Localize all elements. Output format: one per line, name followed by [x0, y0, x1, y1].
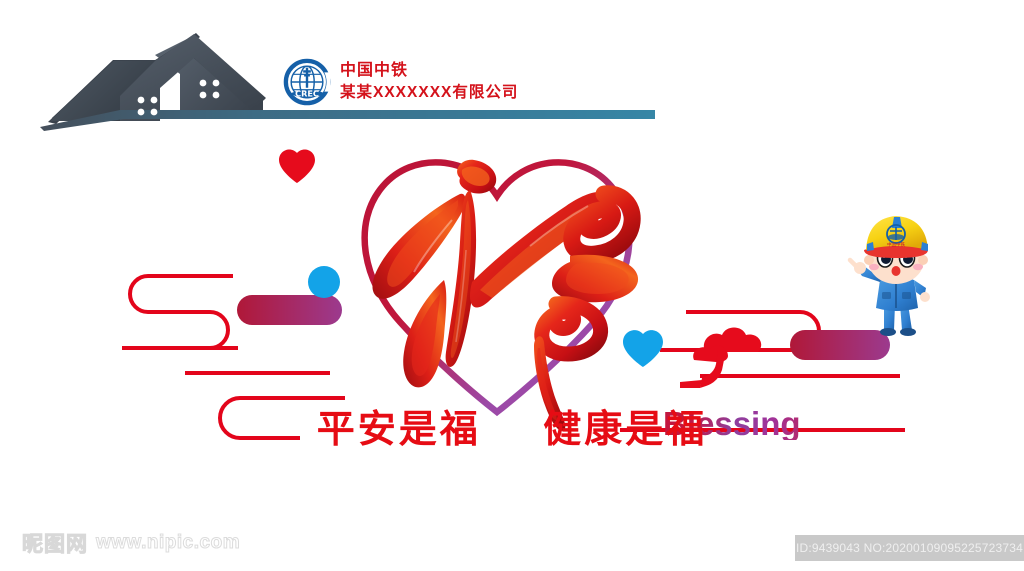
- mascot-helmet-badge-band: [888, 234, 904, 240]
- company-name-block: 中国中铁 某某XXXXXXX有限公司: [340, 61, 518, 102]
- blue-circle-dot: [308, 266, 340, 298]
- mascot-mouth: [892, 266, 901, 276]
- poster-canvas: CREC 中国中铁 某某XXXXXXX有限公司: [0, 0, 1024, 571]
- mascot-helmet-badge-text: 中国中铁: [887, 241, 905, 248]
- fu-calligraphy: [372, 160, 638, 431]
- image-id-bar: ID:9439043 NO:20200109095225723734: [795, 535, 1024, 561]
- svg-text:CREC: CREC: [295, 88, 319, 98]
- construction-worker-mascot: 中国中铁: [838, 208, 954, 340]
- company-name-secondary: 某某XXXXXXX有限公司: [340, 83, 518, 102]
- slogan-part-one: 平安是福: [317, 407, 481, 451]
- mascot-pocket-right: [902, 292, 911, 299]
- mascot-right-hand: [920, 292, 930, 302]
- red-heart-icon: [279, 149, 315, 183]
- gradient-pill-left: [237, 295, 342, 325]
- header-section: CREC 中国中铁 某某XXXXXXX有限公司: [0, 0, 1024, 140]
- mascot-blush-right: [913, 264, 923, 270]
- company-name-primary: 中国中铁: [340, 61, 518, 81]
- site-watermark: 昵图网 www.nipic.com: [22, 528, 240, 558]
- watermark-cn-text: 昵图网: [22, 528, 88, 558]
- mascot-ear-left: [864, 255, 874, 265]
- slogan-text: 平安是福 健康是福: [0, 398, 1024, 453]
- slogan-part-two: 健康是福: [543, 407, 707, 451]
- blue-heart-icon: [623, 330, 663, 367]
- mascot-blush-left: [869, 264, 879, 270]
- watermark-url-text: www.nipic.com: [96, 532, 240, 554]
- china-railway-globe-logo: CREC: [283, 58, 331, 106]
- pine-tree-icon: [680, 328, 761, 389]
- image-id-text: ID:9439043 NO:20200109095225723734: [796, 541, 1023, 555]
- mascot-ear-right: [918, 255, 928, 265]
- mascot-pocket-left: [882, 292, 891, 299]
- company-identity: CREC 中国中铁 某某XXXXXXX有限公司: [283, 58, 518, 106]
